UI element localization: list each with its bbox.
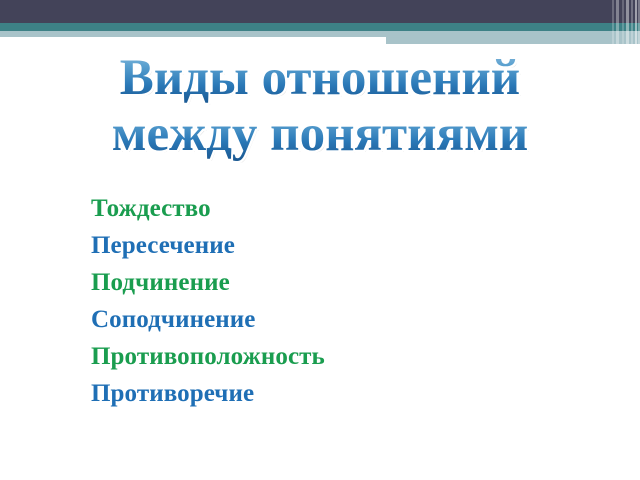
title-line1: Виды отношений [120,50,520,106]
banner-stripe [622,0,624,46]
banner-stripe-accents [610,0,640,46]
title-line2: между понятиями [112,106,528,162]
banner-stripe [631,0,633,46]
list-item: Противоречие [91,375,571,412]
banner-band-dark [0,0,640,23]
top-banner [0,0,640,46]
banner-stripe [626,0,629,46]
relation-types-list: Тождество Пересечение Подчинение Соподчи… [91,190,571,412]
banner-stripe [635,0,637,46]
banner-band-teal [0,23,640,31]
title-wordart: Виды отношений Виды отношений Виды отнош… [10,44,630,164]
list-item: Тождество [91,190,571,227]
banner-stripe [612,0,614,46]
list-item: Соподчинение [91,301,571,338]
banner-band-light-right [386,31,640,44]
list-item: Подчинение [91,264,571,301]
banner-band-light-left [0,31,386,37]
slide-title: Виды отношений Виды отношений Виды отнош… [0,44,640,164]
list-item: Пересечение [91,227,571,264]
list-item: Противоположность [91,338,571,375]
banner-stripe [616,0,619,46]
slide: Виды отношений Виды отношений Виды отнош… [0,0,640,480]
